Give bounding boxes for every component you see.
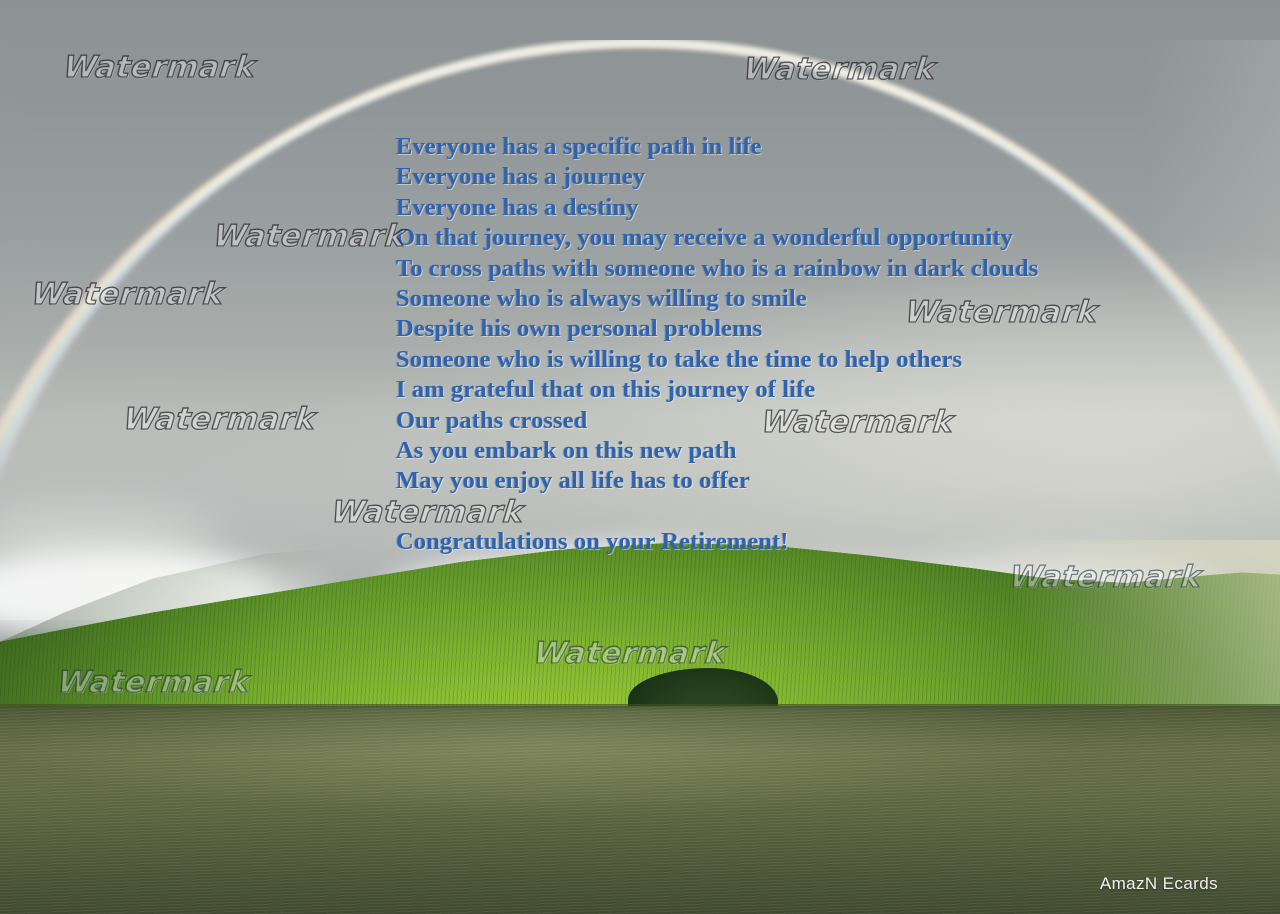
poem-line-5: To cross paths with someone who is a rai… — [396, 254, 1176, 284]
poem-line-10: Our paths crossed — [396, 406, 1176, 436]
poem-line-11: As you embark on this new path — [396, 436, 1176, 466]
poem-line-3: Everyone has a destiny — [396, 193, 1176, 223]
poem-line-12: May you enjoy all life has to offer — [396, 466, 1176, 496]
poem-line-9: I am grateful that on this journey of li… — [396, 375, 1176, 405]
poem-line-4: On that journey, you may receive a wonde… — [396, 223, 1176, 253]
hill-right-haze — [880, 540, 1280, 730]
poem-line-6: Someone who is always willing to smile — [396, 284, 1176, 314]
poem-spacer — [396, 497, 1176, 527]
ecard-canvas: Everyone has a specific path in life Eve… — [0, 0, 1280, 914]
publisher-credit: AmazN Ecards — [1100, 874, 1218, 894]
shoreline-edge — [0, 704, 1280, 710]
poem-line-1: Everyone has a specific path in life — [396, 132, 1176, 162]
water-gloss — [0, 706, 1280, 914]
poem-line-2: Everyone has a journey — [396, 162, 1176, 192]
poem-closing-line: Congratulations on your Retirement! — [396, 527, 1176, 557]
poem-line-8: Someone who is willing to take the time … — [396, 345, 1176, 375]
poem-line-7: Despite his own personal problems — [396, 314, 1176, 344]
poem-block: Everyone has a specific path in life Eve… — [396, 132, 1176, 557]
